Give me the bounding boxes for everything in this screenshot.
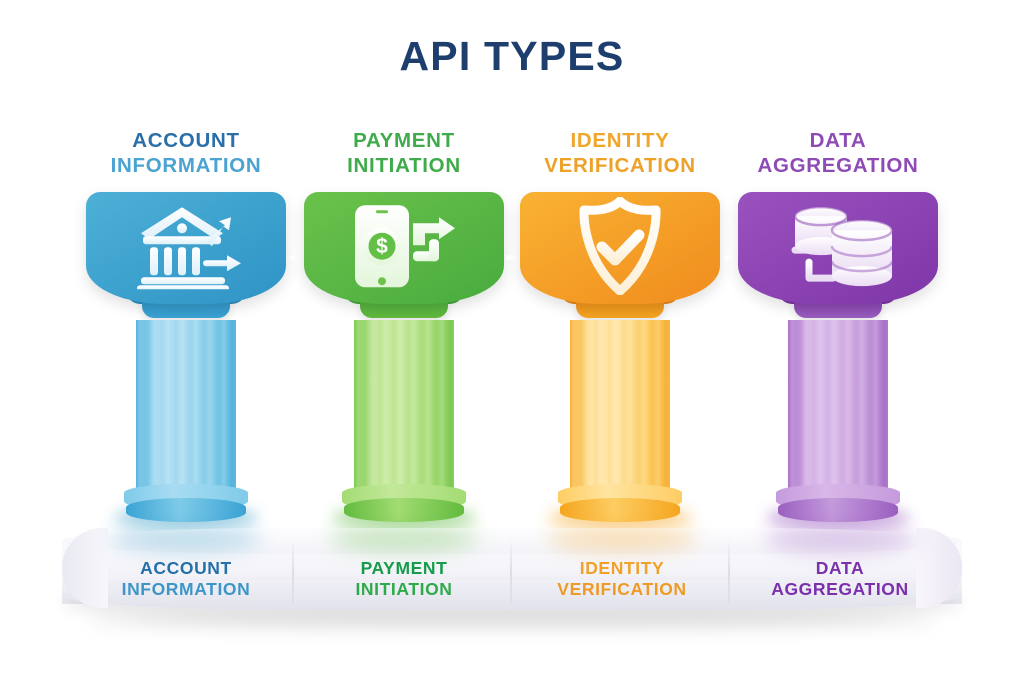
pillar-shaft-0	[136, 320, 236, 492]
icon-card-1[interactable]: $	[304, 192, 504, 304]
platform-glow-2	[547, 524, 697, 552]
shield-check-icon	[572, 197, 668, 295]
pillar-heading-2-line2: VERIFICATION	[512, 153, 728, 178]
platform-label-2-line1: IDENTITY	[514, 558, 730, 579]
platform-label-3[interactable]: DATA AGGREGATION	[732, 558, 948, 600]
mobile-payment-icon: $	[347, 201, 461, 291]
pillar-account-information[interactable]: ACCOUNT INFORMATION	[78, 128, 294, 510]
platform-base: ACCOUNT INFORMATION PAYMENT INITIATION I…	[62, 528, 962, 620]
pillar-flutes-1	[354, 320, 454, 492]
pillar-base-lower-0	[126, 498, 246, 522]
platform-glow-0	[111, 524, 261, 552]
icon-card-2[interactable]	[520, 192, 720, 304]
platform-label-0[interactable]: ACCOUNT INFORMATION	[78, 558, 294, 600]
pillar-shaft-3	[788, 320, 888, 492]
platform-label-0-line1: ACCOUNT	[78, 558, 294, 579]
icon-card-3[interactable]	[738, 192, 938, 304]
pillar-shaft-wrap-2	[512, 320, 728, 510]
pillar-shaft-wrap-1	[296, 320, 512, 510]
pillar-shaft-wrap-0	[78, 320, 294, 510]
pillar-identity-verification[interactable]: IDENTITY VERIFICATION	[512, 128, 728, 510]
icon-card-wrap-3	[730, 192, 946, 320]
platform-glow-1	[329, 524, 479, 552]
pillar-flutes-0	[136, 320, 236, 492]
pillar-heading-2: IDENTITY VERIFICATION	[512, 128, 728, 184]
platform-label-2[interactable]: IDENTITY VERIFICATION	[514, 558, 730, 600]
pillar-base-lower-2	[560, 498, 680, 522]
pillar-heading-1-line1: PAYMENT	[296, 128, 512, 153]
pillar-heading-1: PAYMENT INITIATION	[296, 128, 512, 184]
platform-label-1-line1: PAYMENT	[296, 558, 512, 579]
icon-card-0[interactable]	[86, 192, 286, 304]
pillar-shaft-1	[354, 320, 454, 492]
page-title: API TYPES	[0, 33, 1024, 80]
pillar-base-lower-3	[778, 498, 898, 522]
pillar-payment-initiation[interactable]: PAYMENT INITIATION	[296, 128, 512, 510]
infographic-canvas: API TYPES ACCOUNT INFORMATION	[0, 0, 1024, 683]
platform-label-1-line2: INITIATION	[296, 579, 512, 600]
platform-glow-3	[765, 524, 915, 552]
pillar-shaft-wrap-3	[730, 320, 946, 510]
pillar-heading-3: DATA AGGREGATION	[730, 128, 946, 184]
platform-label-1[interactable]: PAYMENT INITIATION	[296, 558, 512, 600]
pillar-heading-0-line2: INFORMATION	[78, 153, 294, 178]
pillar-heading-0: ACCOUNT INFORMATION	[78, 128, 294, 184]
pillar-shaft-2	[570, 320, 670, 492]
pillar-heading-3-line2: AGGREGATION	[730, 153, 946, 178]
pillar-flutes-3	[788, 320, 888, 492]
bank-building-icon	[127, 203, 245, 289]
pillar-heading-0-line1: ACCOUNT	[78, 128, 294, 153]
database-stack-icon	[777, 200, 899, 292]
pillar-data-aggregation[interactable]: DATA AGGREGATION	[730, 128, 946, 510]
platform-label-3-line2: AGGREGATION	[732, 579, 948, 600]
icon-card-wrap-1: $	[296, 192, 512, 320]
icon-card-wrap-0	[78, 192, 294, 320]
platform-label-2-line2: VERIFICATION	[514, 579, 730, 600]
platform-label-0-line2: INFORMATION	[78, 579, 294, 600]
platform-label-3-line1: DATA	[732, 558, 948, 579]
pillar-heading-3-line1: DATA	[730, 128, 946, 153]
pillar-flutes-2	[570, 320, 670, 492]
icon-card-wrap-2	[512, 192, 728, 320]
svg-text:$: $	[376, 235, 388, 258]
pillar-base-lower-1	[344, 498, 464, 522]
pillar-heading-2-line1: IDENTITY	[512, 128, 728, 153]
pillar-heading-1-line2: INITIATION	[296, 153, 512, 178]
